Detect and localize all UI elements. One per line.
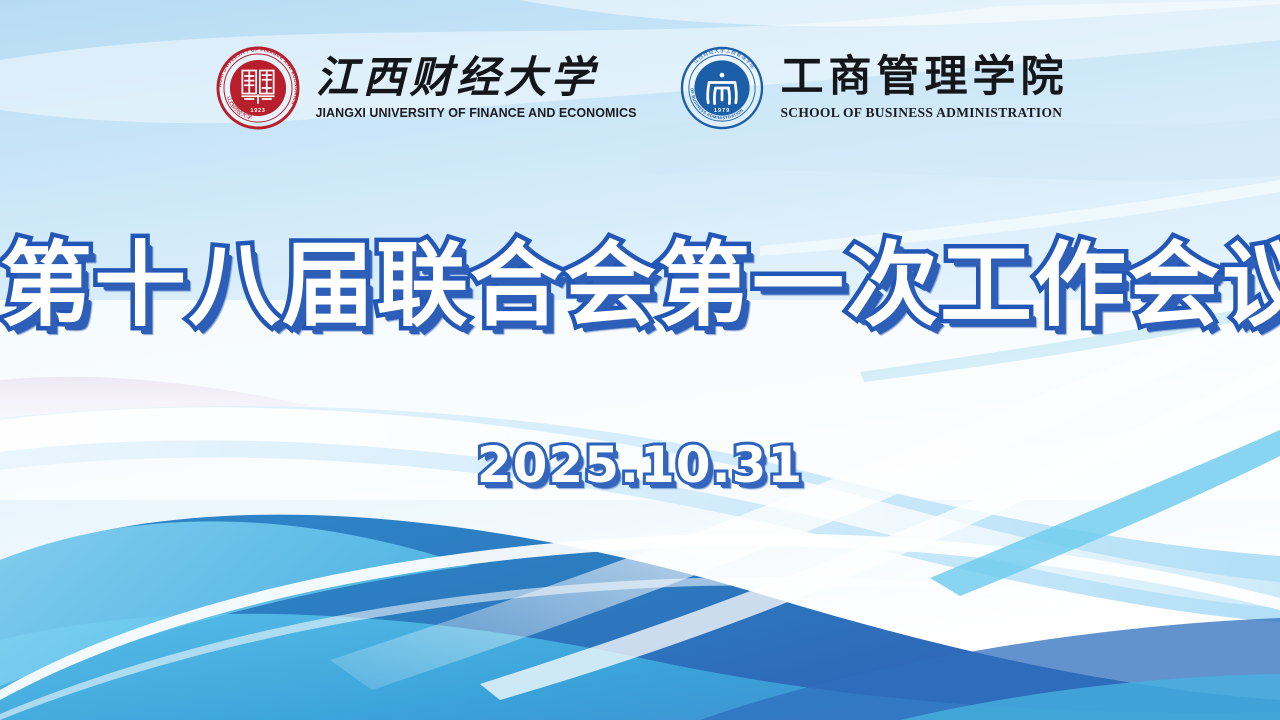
university-chinese-name: 江西财经大学 bbox=[316, 56, 637, 101]
jiangxi-university-of-finance-and-economics-seal: JIANGXI UNIVERSITY OF FINANCE AND ECONOM… bbox=[212, 42, 304, 134]
date-container: 2025.10.31 bbox=[0, 438, 1280, 493]
conference-date: 2025.10.31 bbox=[477, 438, 803, 493]
school-english-name: SCHOOL OF BUSINESS ADMINISTRATION bbox=[780, 105, 1068, 121]
school-chinese-name: 工商管理学院 bbox=[780, 55, 1068, 100]
school-of-business-administration-seal: 江西财经大学工商管理学院 1979 SCHOOL OF BUSINESS ADM… bbox=[676, 42, 768, 134]
svg-text:1979: 1979 bbox=[714, 108, 730, 114]
logo-bar: JIANGXI UNIVERSITY OF FINANCE AND ECONOM… bbox=[0, 42, 1280, 134]
university-logo-block: JIANGXI UNIVERSITY OF FINANCE AND ECONOM… bbox=[212, 42, 637, 134]
school-logo-block: 江西财经大学工商管理学院 1979 SCHOOL OF BUSINESS ADM… bbox=[676, 42, 1068, 134]
conference-title: 第十八届联合会第一次工作会议 bbox=[0, 236, 1280, 335]
svg-text:1923: 1923 bbox=[250, 108, 265, 114]
main-title-container: 第十八届联合会第一次工作会议 bbox=[0, 236, 1280, 335]
university-logo-text: 江西财经大学 JIANGXI UNIVERSITY OF FINANCE AND… bbox=[316, 56, 637, 120]
school-logo-text: 工商管理学院 SCHOOL OF BUSINESS ADMINISTRATION bbox=[780, 55, 1068, 121]
conference-title-slide: JIANGXI UNIVERSITY OF FINANCE AND ECONOM… bbox=[0, 0, 1280, 720]
university-english-name: JIANGXI UNIVERSITY OF FINANCE AND ECONOM… bbox=[316, 106, 637, 120]
